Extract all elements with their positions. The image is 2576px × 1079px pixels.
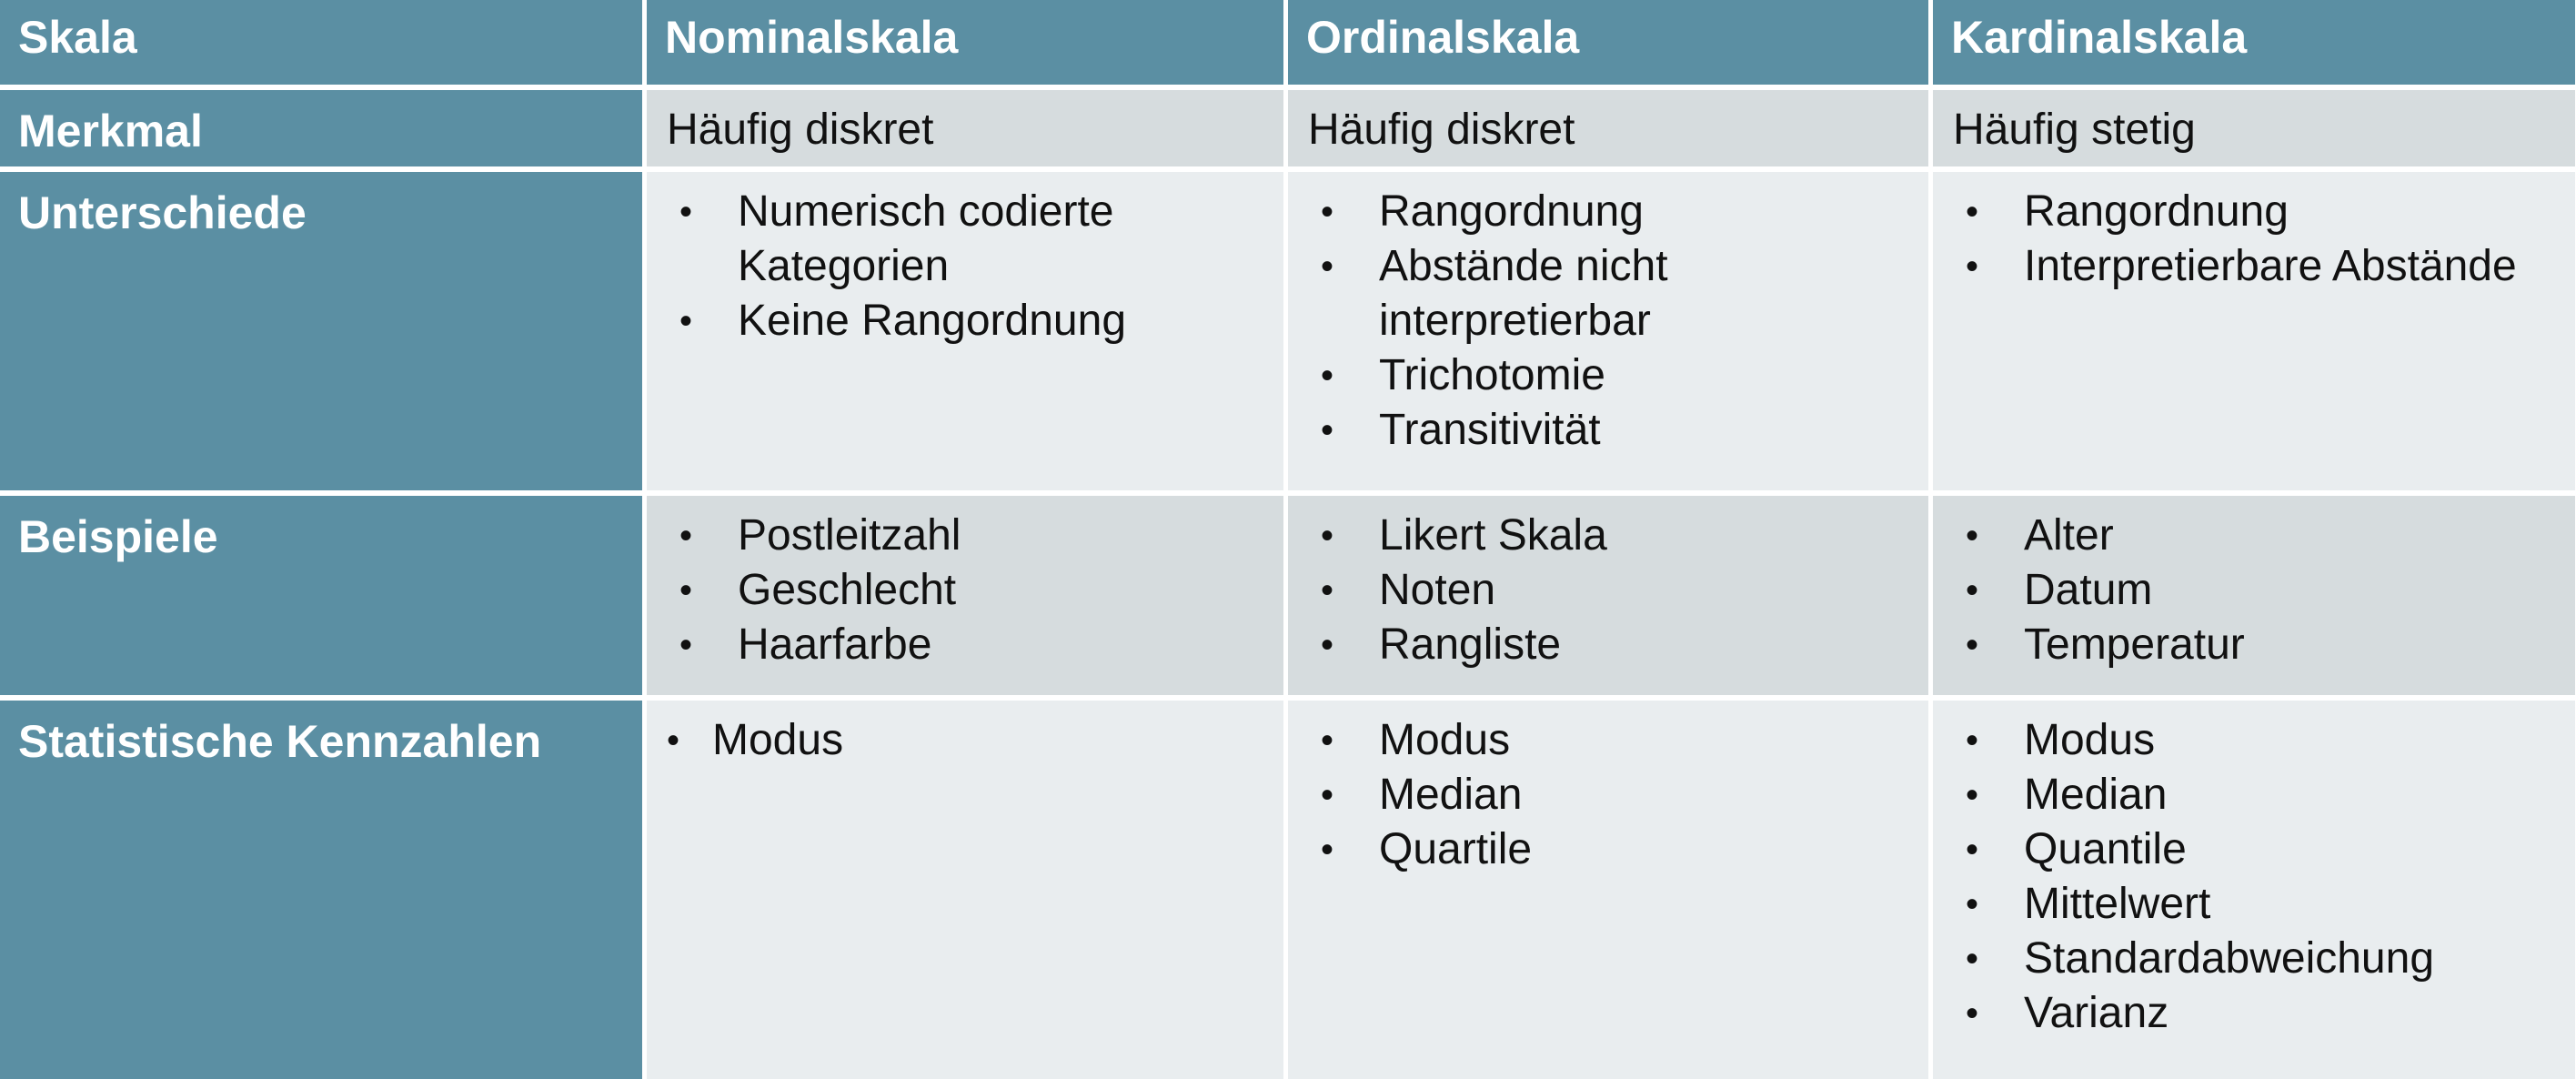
bullet-item-text: Rangordnung xyxy=(2024,185,2575,239)
bullet-dot-icon: • xyxy=(1321,403,1333,458)
bullet-item-text: Temperatur xyxy=(2024,618,2575,672)
row-label-statistische-kennzahlen: Statistische Kennzahlen xyxy=(0,701,642,1079)
bullet-dot-icon: • xyxy=(1966,877,1978,932)
bullet-dot-icon: • xyxy=(1321,239,1333,294)
bullet-item-text: Quantile xyxy=(2024,822,2575,877)
bullet-item-text: Varianz xyxy=(2024,986,2575,1041)
bullet-list: •Postleitzahl•Geschlecht•Haarfarbe xyxy=(647,496,1283,672)
table-row: Beispiele •Postleitzahl•Geschlecht•Haarf… xyxy=(0,496,2576,695)
bullet-list: •Modus•Median•Quartile xyxy=(1288,701,1928,877)
bullet-dot-icon: • xyxy=(1966,563,1978,618)
bullet-dot-icon: • xyxy=(1321,563,1333,618)
bullet-dot-icon: • xyxy=(1966,932,1978,986)
bullet-dot-icon: • xyxy=(1966,618,1978,672)
row-label-text: Unterschiede xyxy=(0,172,642,241)
bullet-list: •Alter•Datum•Temperatur xyxy=(1933,496,2575,672)
bullet-item-text: Median xyxy=(2024,768,2575,822)
cell-kennzahlen-nominalskala: •Modus xyxy=(647,701,1283,1079)
bullet-item-text: Keine Rangordnung xyxy=(738,294,1283,348)
bullet-item: •Rangordnung xyxy=(1933,185,2575,239)
bullet-item-text: Alter xyxy=(2024,509,2575,563)
bullet-item: •Modus xyxy=(1933,713,2575,768)
bullet-item: •Quantile xyxy=(1933,822,2575,877)
bullet-item: •Median xyxy=(1933,768,2575,822)
cell-text: Häufig diskret xyxy=(647,90,1283,157)
bullet-item-text: Transitivität xyxy=(1379,403,1928,458)
bullet-list: •Rangordnung•Interpretierbare Abstände xyxy=(1933,172,2575,294)
cell-unterschiede-ordinalskala: •Rangordnung•Abstände nicht interpretier… xyxy=(1288,172,1928,490)
bullet-dot-icon: • xyxy=(679,618,692,672)
bullet-item-text: Standardabweichung xyxy=(2024,932,2575,986)
table-row: Unterschiede •Numerisch codierte Kategor… xyxy=(0,172,2576,490)
bullet-item-text: Mittelwert xyxy=(2024,877,2575,932)
cell-unterschiede-kardinalskala: •Rangordnung•Interpretierbare Abstände xyxy=(1933,172,2575,490)
bullet-item: •Likert Skala xyxy=(1288,509,1928,563)
cell-merkmal-ordinalskala: Häufig diskret xyxy=(1288,90,1928,166)
bullet-item: •Geschlecht xyxy=(647,563,1283,618)
bullet-dot-icon: • xyxy=(679,563,692,618)
bullet-item: •Standardabweichung xyxy=(1933,932,2575,986)
header-label: Skala xyxy=(0,0,642,66)
bullet-dot-icon: • xyxy=(1321,509,1333,563)
bullet-item: •Interpretierbare Abstände xyxy=(1933,239,2575,294)
bullet-item-text: Modus xyxy=(2024,713,2575,768)
table-row: Merkmal Häufig diskret Häufig diskret Hä… xyxy=(0,90,2576,166)
row-label-text: Statistische Kennzahlen xyxy=(0,701,642,770)
row-label-unterschiede: Unterschiede xyxy=(0,172,642,490)
header-cell-kardinalskala: Kardinalskala xyxy=(1933,0,2575,85)
bullet-item: •Varianz xyxy=(1933,986,2575,1041)
cell-merkmal-kardinalskala: Häufig stetig xyxy=(1933,90,2575,166)
bullet-item-text: Postleitzahl xyxy=(738,509,1283,563)
bullet-item: •Quartile xyxy=(1288,822,1928,877)
bullet-item: •Median xyxy=(1288,768,1928,822)
bullet-dot-icon: • xyxy=(667,713,679,768)
bullet-dot-icon: • xyxy=(1966,768,1978,822)
bullet-item: •Transitivität xyxy=(1288,403,1928,458)
bullet-dot-icon: • xyxy=(1321,822,1333,877)
bullet-item-text: Median xyxy=(1379,768,1928,822)
row-label-text: Merkmal xyxy=(0,90,642,159)
bullet-item: •Alter xyxy=(1933,509,2575,563)
cell-beispiele-nominalskala: •Postleitzahl•Geschlecht•Haarfarbe xyxy=(647,496,1283,695)
bullet-dot-icon: • xyxy=(679,185,692,239)
table-row: Statistische Kennzahlen •Modus •Modus•Me… xyxy=(0,701,2576,1079)
cell-beispiele-kardinalskala: •Alter•Datum•Temperatur xyxy=(1933,496,2575,695)
cell-beispiele-ordinalskala: •Likert Skala•Noten•Rangliste xyxy=(1288,496,1928,695)
bullet-item-text: Noten xyxy=(1379,563,1928,618)
bullet-item: •Haarfarbe xyxy=(647,618,1283,672)
bullet-item-text: Numerisch codierte Kategorien xyxy=(738,185,1283,294)
bullet-dot-icon: • xyxy=(1321,618,1333,672)
bullet-dot-icon: • xyxy=(1966,986,1978,1041)
bullet-item: •Temperatur xyxy=(1933,618,2575,672)
bullet-item-text: Modus xyxy=(1379,713,1928,768)
cell-text: Häufig diskret xyxy=(1288,90,1928,157)
bullet-dot-icon: • xyxy=(679,509,692,563)
bullet-item: •Rangliste xyxy=(1288,618,1928,672)
cell-kennzahlen-kardinalskala: •Modus•Median•Quantile•Mittelwert•Standa… xyxy=(1933,701,2575,1079)
bullet-dot-icon: • xyxy=(679,294,692,348)
bullet-item-text: Geschlecht xyxy=(738,563,1283,618)
bullet-item: •Modus xyxy=(647,713,1283,768)
bullet-item: •Noten xyxy=(1288,563,1928,618)
cell-text: Häufig stetig xyxy=(1933,90,2575,157)
bullet-list: •Modus xyxy=(647,701,1283,768)
bullet-item: •Datum xyxy=(1933,563,2575,618)
bullet-list: •Modus•Median•Quantile•Mittelwert•Standa… xyxy=(1933,701,2575,1041)
bullet-list: •Rangordnung•Abstände nicht interpretier… xyxy=(1288,172,1928,458)
bullet-dot-icon: • xyxy=(1966,713,1978,768)
bullet-dot-icon: • xyxy=(1966,509,1978,563)
bullet-item-text: Datum xyxy=(2024,563,2575,618)
header-cell-skala: Skala xyxy=(0,0,642,85)
bullet-item: •Trichotomie xyxy=(1288,348,1928,403)
bullet-item-text: Quartile xyxy=(1379,822,1928,877)
cell-kennzahlen-ordinalskala: •Modus•Median•Quartile xyxy=(1288,701,1928,1079)
row-label-merkmal: Merkmal xyxy=(0,90,642,166)
bullet-dot-icon: • xyxy=(1321,185,1333,239)
bullet-list: •Numerisch codierte Kategorien•Keine Ran… xyxy=(647,172,1283,348)
bullet-item-text: Likert Skala xyxy=(1379,509,1928,563)
table-header-row: Skala Nominalskala Ordinalskala Kardinal… xyxy=(0,0,2576,85)
header-cell-nominalskala: Nominalskala xyxy=(647,0,1283,85)
bullet-dot-icon: • xyxy=(1321,713,1333,768)
bullet-dot-icon: • xyxy=(1966,822,1978,877)
bullet-item-text: Abstände nicht interpretierbar xyxy=(1379,239,1928,348)
bullet-dot-icon: • xyxy=(1321,348,1333,403)
row-label-beispiele: Beispiele xyxy=(0,496,642,695)
bullet-item-text: Interpretierbare Abstände xyxy=(2024,239,2575,294)
bullet-item: •Abstände nicht interpretierbar xyxy=(1288,239,1928,348)
cell-merkmal-nominalskala: Häufig diskret xyxy=(647,90,1283,166)
bullet-dot-icon: • xyxy=(1321,768,1333,822)
bullet-item-text: Rangordnung xyxy=(1379,185,1928,239)
bullet-item: •Numerisch codierte Kategorien xyxy=(647,185,1283,294)
header-cell-ordinalskala: Ordinalskala xyxy=(1288,0,1928,85)
header-label: Ordinalskala xyxy=(1288,0,1928,66)
bullet-item-text: Haarfarbe xyxy=(738,618,1283,672)
bullet-item-text: Rangliste xyxy=(1379,618,1928,672)
cell-unterschiede-nominalskala: •Numerisch codierte Kategorien•Keine Ran… xyxy=(647,172,1283,490)
bullet-item: •Modus xyxy=(1288,713,1928,768)
bullet-item: •Mittelwert xyxy=(1933,877,2575,932)
bullet-item: •Postleitzahl xyxy=(647,509,1283,563)
scale-comparison-table: Skala Nominalskala Ordinalskala Kardinal… xyxy=(0,0,2576,1079)
header-label: Kardinalskala xyxy=(1933,0,2575,66)
bullet-item-text: Modus xyxy=(712,713,1283,768)
bullet-list: •Likert Skala•Noten•Rangliste xyxy=(1288,496,1928,672)
bullet-dot-icon: • xyxy=(1966,185,1978,239)
bullet-item-text: Trichotomie xyxy=(1379,348,1928,403)
bullet-dot-icon: • xyxy=(1966,239,1978,294)
row-label-text: Beispiele xyxy=(0,496,642,565)
bullet-item: •Rangordnung xyxy=(1288,185,1928,239)
header-label: Nominalskala xyxy=(647,0,1283,66)
bullet-item: •Keine Rangordnung xyxy=(647,294,1283,348)
